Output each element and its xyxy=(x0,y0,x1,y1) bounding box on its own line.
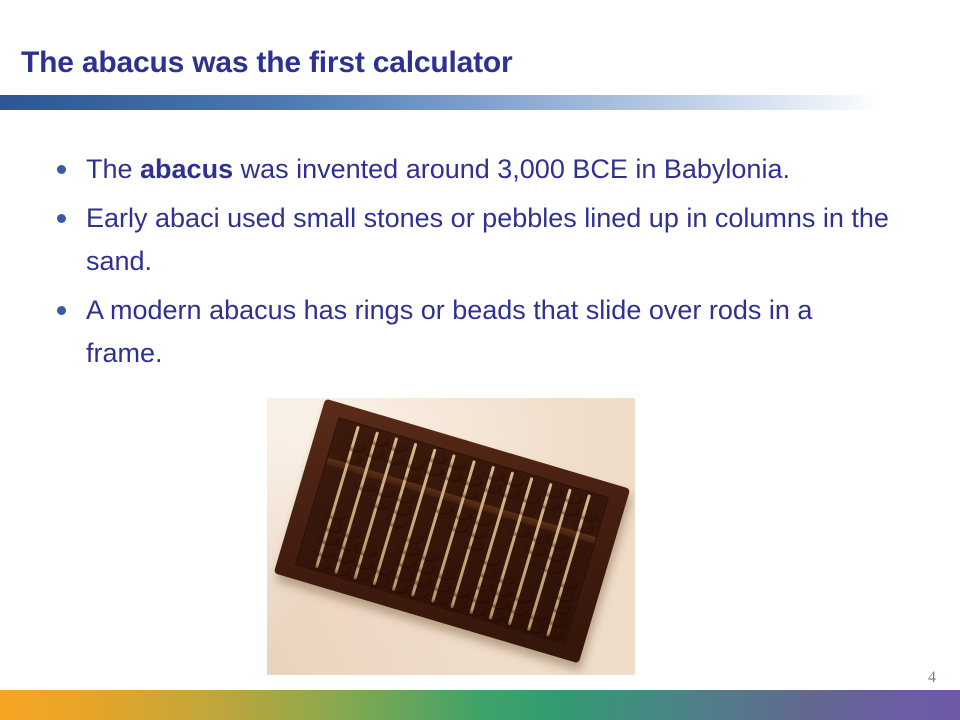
bullet-marker-icon xyxy=(57,306,66,315)
page-title: The abacus was the first calculator xyxy=(21,44,921,82)
bullet-marker-icon xyxy=(57,214,66,223)
bullet-text-prefix: Early abaci used small stones or pebbles… xyxy=(86,203,889,276)
bullet-marker-icon xyxy=(57,165,66,174)
list-item: A modern abacus has rings or beads that … xyxy=(52,289,892,375)
bottom-accent-bar xyxy=(0,690,960,720)
bullet-text-prefix: The xyxy=(86,154,140,184)
bullet-text-bold: abacus xyxy=(140,154,233,184)
list-item: Early abaci used small stones or pebbles… xyxy=(52,197,892,283)
title-divider xyxy=(0,95,960,110)
bullet-text-prefix: A modern abacus has rings or beads that … xyxy=(86,295,812,368)
list-item: The abacus was invented around 3,000 BCE… xyxy=(52,148,892,191)
slide-canvas: The abacus was the first calculator The … xyxy=(0,0,960,720)
bullet-list: The abacus was invented around 3,000 BCE… xyxy=(52,148,892,381)
bullet-text-suffix: was invented around 3,000 BCE in Babylon… xyxy=(233,154,790,184)
page-number: 4 xyxy=(928,669,936,687)
abacus-photo xyxy=(267,398,635,675)
